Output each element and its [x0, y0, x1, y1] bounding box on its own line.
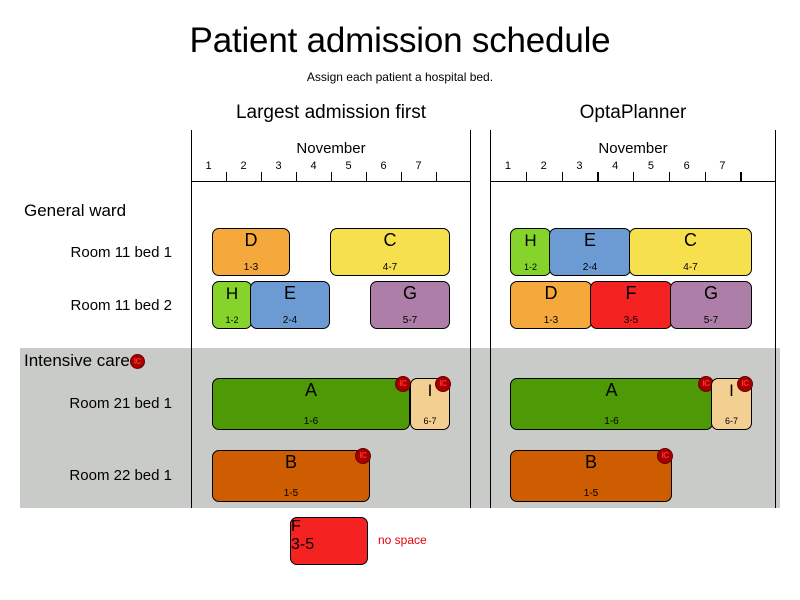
ic-badge-icon: IC [657, 448, 673, 464]
patient-bar-range: 1-3 [511, 314, 591, 327]
patient-bar-range: 4-7 [630, 261, 751, 274]
ic-badge-icon: IC [355, 448, 371, 464]
axis-day-label: 7 [719, 159, 725, 173]
patient-bar[interactable]: H1-2 [212, 281, 252, 329]
ic-badge-icon: IC [395, 376, 411, 392]
patient-bar[interactable]: F3-5 [590, 281, 672, 329]
patient-bar[interactable]: H1-2 [510, 228, 551, 276]
ic-badge-icon: IC [435, 376, 451, 392]
group-label-text: General ward [24, 201, 126, 220]
axis-day-label: 6 [380, 159, 386, 173]
axis-day-label: 6 [684, 159, 690, 173]
axis-day-label: 2 [240, 159, 246, 173]
ic-badge-icon: IC [130, 354, 145, 369]
patient-bar-range: 3-5 [591, 314, 671, 327]
patient-bar[interactable]: C4-7 [330, 228, 450, 276]
patient-bar[interactable]: B1-5IC [212, 450, 370, 502]
axis-day-label: 3 [576, 159, 582, 173]
patient-bar[interactable]: E2-4 [250, 281, 330, 329]
patient-bar-range: 6-7 [411, 415, 449, 428]
patient-bar-name: G [371, 283, 449, 304]
page-subtitle: Assign each patient a hospital bed. [0, 70, 800, 85]
axis-day-label: 7 [415, 159, 421, 173]
patient-bar-range: 2-4 [550, 261, 630, 274]
patient-bar-range: 4-7 [331, 261, 449, 274]
axis-baseline-left [191, 181, 471, 182]
axis-day-label: 2 [541, 159, 547, 173]
patient-bar-range: 1-5 [511, 487, 671, 500]
no-space-note: no space [378, 533, 427, 548]
unassigned-patient-bar[interactable]: F 3-5 [290, 517, 368, 565]
patient-bar-range: 1-2 [213, 314, 251, 327]
axis-day-label: 4 [612, 159, 618, 173]
unassigned-patient-range: 3-5 [291, 536, 367, 554]
patient-bar[interactable]: A1-6IC [510, 378, 713, 430]
patient-bar-name: B [213, 452, 369, 473]
page-title: Patient admission schedule [0, 20, 800, 62]
patient-bar-name: H [511, 230, 550, 251]
patient-bar-range: 5-7 [671, 314, 751, 327]
patient-bar[interactable]: D1-3 [510, 281, 592, 329]
timeline-axis-right: November 1234567 [490, 130, 776, 182]
group-label-text: Intensive care [24, 351, 130, 370]
patient-bar[interactable]: I6-7IC [711, 378, 752, 430]
patient-bar-name: C [331, 230, 449, 251]
panel-title-largest-admission-first: Largest admission first [191, 101, 471, 125]
row-label-room-11-bed-2: Room 11 bed 2 [0, 296, 180, 315]
axis-day-label: 5 [648, 159, 654, 173]
patient-bar-name: G [671, 283, 751, 304]
patient-bar-name: H [213, 283, 251, 304]
patient-bar[interactable]: A1-6IC [212, 378, 410, 430]
patient-bar-name: B [511, 452, 671, 473]
panel-title-optaplanner: OptaPlanner [490, 101, 776, 125]
patient-bar[interactable]: G5-7 [370, 281, 450, 329]
patient-bar-range: 6-7 [712, 415, 751, 428]
patient-bar-name: D [213, 230, 289, 251]
axis-day-label: 1 [505, 159, 511, 173]
patient-bar-range: 1-6 [213, 415, 409, 428]
patient-bar[interactable]: E2-4 [549, 228, 631, 276]
axis-month-label-right: November [490, 140, 776, 158]
patient-bar-range: 1-6 [511, 415, 712, 428]
patient-bar-name: A [511, 380, 712, 401]
patient-bar-name: C [630, 230, 751, 251]
axis-day-label: 3 [275, 159, 281, 173]
group-label-general-ward: General ward [0, 200, 180, 221]
patient-bar-range: 5-7 [371, 314, 449, 327]
patient-bar-range: 1-2 [511, 261, 550, 274]
patient-bar-range: 2-4 [251, 314, 329, 327]
axis-day-label: 5 [345, 159, 351, 173]
patient-bar-name: E [550, 230, 630, 251]
patient-bar[interactable]: C4-7 [629, 228, 752, 276]
patient-bar[interactable]: D1-3 [212, 228, 290, 276]
patient-bar-range: 1-5 [213, 487, 369, 500]
axis-day-label: 4 [310, 159, 316, 173]
patient-bar[interactable]: B1-5IC [510, 450, 672, 502]
timeline-axis-left: November 1234567 [191, 130, 471, 182]
patient-bar-range: 1-3 [213, 261, 289, 274]
row-label-room-22-bed-1: Room 22 bed 1 [0, 466, 180, 485]
unassigned-patient-name: F [291, 518, 367, 536]
patient-bar[interactable]: I6-7IC [410, 378, 450, 430]
patient-bar-name: A [213, 380, 409, 401]
patient-bar[interactable]: G5-7 [670, 281, 752, 329]
row-label-room-21-bed-1: Room 21 bed 1 [0, 394, 180, 413]
patient-bar-name: F [591, 283, 671, 304]
group-label-intensive-care: Intensive careIC [0, 350, 180, 371]
axis-day-label: 1 [205, 159, 211, 173]
patient-bar-name: E [251, 283, 329, 304]
axis-month-label-left: November [191, 140, 471, 158]
axis-baseline-right [490, 181, 776, 182]
patient-bar-name: D [511, 283, 591, 304]
ic-badge-icon: IC [737, 376, 753, 392]
row-label-room-11-bed-1: Room 11 bed 1 [0, 243, 180, 262]
